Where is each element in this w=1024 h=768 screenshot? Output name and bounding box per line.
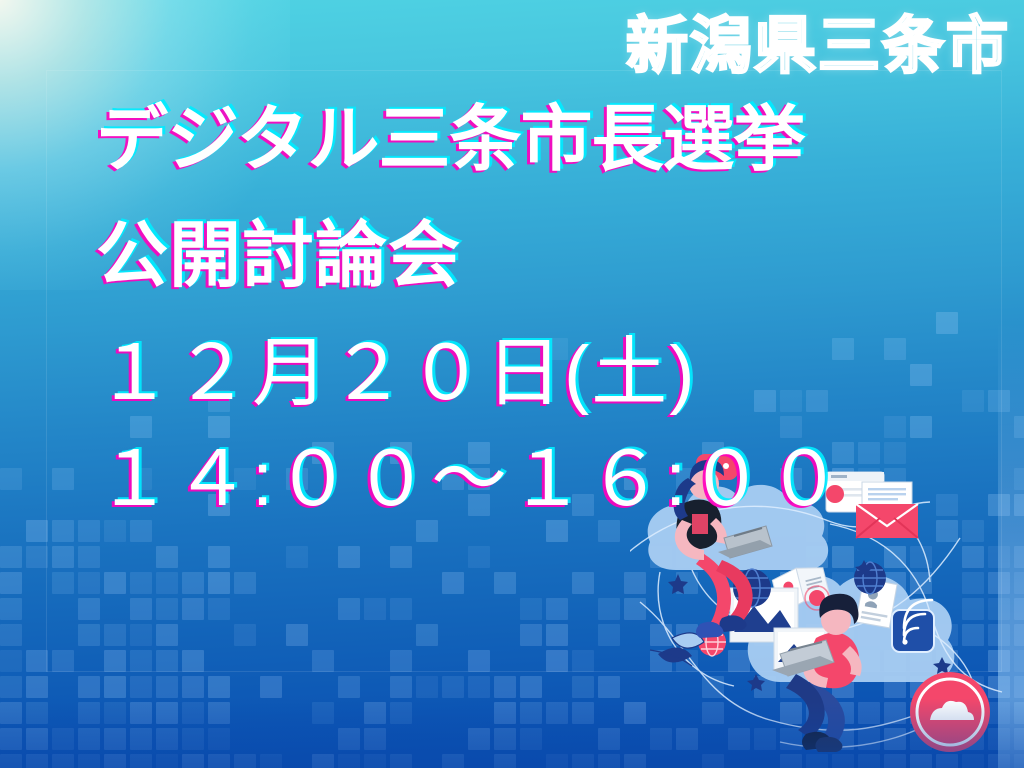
mosaic-square	[702, 546, 724, 568]
person-male-with-laptop	[772, 594, 862, 752]
mosaic-square	[936, 520, 958, 542]
mosaic-square	[676, 728, 698, 750]
mosaic-square	[520, 728, 542, 750]
mosaic-square	[988, 572, 1010, 594]
mosaic-square	[910, 728, 932, 750]
mosaic-square	[806, 624, 828, 646]
mosaic-square	[156, 546, 178, 568]
mosaic-square	[208, 676, 230, 698]
mosaic-square	[104, 702, 126, 724]
mosaic-square	[754, 598, 776, 620]
mosaic-square	[806, 728, 828, 750]
mosaic-square	[936, 702, 958, 724]
mosaic-square	[494, 676, 516, 698]
mosaic-square	[806, 754, 828, 768]
mosaic-square	[546, 520, 568, 542]
mosaic-square	[104, 624, 126, 646]
mosaic-square	[494, 572, 516, 594]
mosaic-square	[650, 650, 672, 672]
mosaic-square	[338, 728, 360, 750]
mosaic-square	[858, 442, 880, 464]
mosaic-square	[884, 754, 906, 768]
mosaic-square	[52, 520, 74, 542]
mosaic-square	[130, 624, 152, 646]
mosaic-square	[936, 754, 958, 768]
wifi-icon	[892, 600, 934, 652]
mosaic-square	[806, 546, 828, 568]
mosaic-square	[754, 624, 776, 646]
star-icon-1	[668, 574, 688, 594]
mosaic-square	[858, 702, 880, 724]
mosaic-square	[52, 650, 74, 672]
mosaic-square	[1014, 624, 1024, 646]
globe-icon-navy-2	[854, 562, 886, 594]
mosaic-square	[962, 546, 984, 568]
mosaic-square	[182, 650, 204, 672]
mosaic-square	[754, 728, 776, 750]
mosaic-square	[962, 754, 984, 768]
mosaic-square	[260, 676, 282, 698]
mosaic-square	[26, 728, 48, 750]
mosaic-square	[1014, 494, 1024, 516]
mosaic-square	[130, 520, 152, 542]
mosaic-square	[208, 702, 230, 724]
mosaic-square	[156, 754, 178, 768]
mosaic-square	[130, 728, 152, 750]
mosaic-square	[156, 598, 178, 620]
mosaic-square	[884, 468, 906, 490]
mosaic-square	[104, 754, 126, 768]
shoe-4	[815, 737, 842, 752]
mosaic-square	[1014, 468, 1024, 490]
cloud-shape-lower	[745, 575, 954, 682]
mosaic-square	[832, 676, 854, 698]
mosaic-square	[988, 676, 1010, 698]
mosaic-square	[936, 676, 958, 698]
mosaic-square	[988, 494, 1010, 516]
mosaic-square	[1014, 572, 1024, 594]
mosaic-square	[468, 676, 490, 698]
mosaic-square	[52, 572, 74, 594]
mosaic-square	[962, 520, 984, 542]
photo-frame-icon-small	[774, 628, 828, 670]
mosaic-square	[26, 546, 48, 568]
envelope-icon	[856, 482, 918, 538]
globe-icon-navy-upper	[735, 568, 773, 606]
mosaic-square	[988, 702, 1010, 724]
mosaic-square	[884, 572, 906, 594]
mosaic-square	[936, 312, 958, 334]
mosaic-square	[884, 416, 906, 438]
mosaic-square	[702, 754, 724, 768]
mosaic-square	[0, 650, 22, 672]
mosaic-square	[312, 702, 334, 724]
mosaic-square	[520, 702, 542, 724]
mosaic-square	[598, 598, 620, 620]
mosaic-square	[754, 676, 776, 698]
mosaic-square	[416, 624, 438, 646]
mosaic-square	[156, 572, 178, 594]
mosaic-square	[416, 676, 438, 698]
mosaic-square	[0, 468, 22, 490]
mosaic-square	[936, 728, 958, 750]
right-light-strip	[998, 0, 1024, 768]
mosaic-square	[182, 728, 204, 750]
mosaic-square	[962, 676, 984, 698]
mosaic-square	[78, 676, 100, 698]
mosaic-square	[702, 702, 724, 724]
mosaic-square	[286, 624, 308, 646]
mosaic-square	[26, 754, 48, 768]
mosaic-square	[78, 728, 100, 750]
mosaic-square	[130, 650, 152, 672]
mosaic-square	[780, 650, 802, 672]
mosaic-square	[390, 650, 412, 672]
mosaic-square	[390, 676, 412, 698]
event-date: １２月２０日(土)	[96, 336, 844, 412]
mosaic-square	[780, 754, 802, 768]
mosaic-square	[78, 520, 100, 542]
mosaic-square	[988, 546, 1010, 568]
mosaic-square	[26, 520, 48, 542]
mosaic-square	[962, 624, 984, 646]
mosaic-square	[910, 546, 932, 568]
mosaic-square	[910, 702, 932, 724]
mosaic-square	[208, 572, 230, 594]
mosaic-square	[234, 624, 256, 646]
mosaic-square	[598, 728, 620, 750]
mosaic-square	[0, 624, 22, 646]
mosaic-square	[130, 572, 152, 594]
mosaic-square	[1014, 754, 1024, 768]
globe-icon-pink	[698, 628, 726, 656]
mosaic-square	[364, 702, 386, 724]
mosaic-square	[624, 572, 646, 594]
mosaic-square	[546, 624, 568, 646]
mosaic-square	[910, 676, 932, 698]
mosaic-square	[0, 572, 22, 594]
mosaic-square	[806, 598, 828, 620]
mosaic-square	[390, 702, 412, 724]
mosaic-square	[208, 598, 230, 620]
mosaic-square	[572, 650, 594, 672]
mosaic-square	[936, 624, 958, 646]
mosaic-square	[598, 754, 620, 768]
open-book-icon	[771, 562, 831, 613]
mosaic-square	[0, 546, 22, 568]
mosaic-square	[598, 676, 620, 698]
globe-icon-navy-center	[732, 569, 770, 607]
mosaic-square	[156, 650, 178, 672]
mosaic-square	[182, 676, 204, 698]
mosaic-square	[858, 598, 880, 620]
mosaic-square	[1014, 728, 1024, 750]
mosaic-square	[78, 598, 100, 620]
mosaic-square	[390, 754, 412, 768]
mosaic-square	[884, 546, 906, 568]
mosaic-square	[884, 598, 906, 620]
mosaic-square	[936, 494, 958, 516]
mosaic-square	[962, 728, 984, 750]
mosaic-square	[182, 572, 204, 594]
mosaic-square	[884, 338, 906, 360]
mosaic-square	[676, 650, 698, 672]
subheadline: 公開討論会	[96, 220, 844, 292]
mosaic-square	[390, 598, 412, 620]
mosaic-square	[650, 546, 672, 568]
mosaic-square	[234, 754, 256, 768]
mosaic-square	[910, 754, 932, 768]
mosaic-square	[858, 468, 880, 490]
mosaic-square	[364, 728, 386, 750]
shoe-1	[719, 615, 746, 632]
mosaic-square	[858, 650, 880, 672]
mosaic-square	[442, 572, 464, 594]
mosaic-square	[624, 754, 646, 768]
mosaic-square	[182, 754, 204, 768]
shoe-3	[802, 732, 831, 750]
leaf-icon	[650, 633, 704, 666]
mosaic-square	[0, 754, 22, 768]
mosaic-square	[78, 624, 100, 646]
mosaic-square	[832, 572, 854, 594]
mosaic-square	[494, 728, 516, 750]
mosaic-square	[832, 754, 854, 768]
mosaic-square	[988, 624, 1010, 646]
mosaic-square	[234, 572, 256, 594]
mosaic-square	[884, 702, 906, 724]
mosaic-square	[520, 624, 542, 646]
mosaic-square	[858, 572, 880, 594]
mosaic-square	[468, 546, 490, 568]
mosaic-square	[936, 650, 958, 672]
mosaic-square	[546, 702, 568, 724]
headline: デジタル三条市長選挙	[96, 104, 844, 176]
mosaic-square	[988, 650, 1010, 672]
mosaic-square	[598, 624, 620, 646]
mosaic-square	[26, 676, 48, 698]
mosaic-square	[572, 676, 594, 698]
globe-icon-navy-1	[733, 569, 771, 607]
mosaic-square	[806, 520, 828, 542]
mosaic-square	[676, 546, 698, 568]
mosaic-square	[52, 728, 74, 750]
mosaic-square	[104, 676, 126, 698]
mosaic-square	[130, 676, 152, 698]
mosaic-square	[312, 650, 334, 672]
mosaic-square	[728, 728, 750, 750]
mosaic-square	[156, 624, 178, 646]
text-block: デジタル三条市長選挙 公開討論会 １２月２０日(土) １４:００〜１６:００	[96, 104, 844, 518]
mosaic-square	[910, 364, 932, 386]
mosaic-square	[884, 650, 906, 672]
mosaic-square	[910, 598, 932, 620]
mosaic-square	[910, 416, 932, 438]
mosaic-square	[832, 624, 854, 646]
star-icon-2	[855, 560, 873, 577]
mosaic-square	[104, 572, 126, 594]
mosaic-square	[806, 702, 828, 724]
mosaic-square	[858, 754, 880, 768]
mosaic-square	[208, 728, 230, 750]
hair	[819, 594, 858, 624]
mosaic-square	[208, 754, 230, 768]
mosaic-square	[520, 676, 542, 698]
mosaic-square	[468, 728, 490, 750]
mosaic-square	[104, 650, 126, 672]
mosaic-square	[910, 650, 932, 672]
mosaic-square	[728, 650, 750, 672]
mosaic-square	[546, 754, 568, 768]
mosaic-square	[494, 702, 516, 724]
mosaic-square	[572, 702, 594, 724]
mosaic-square	[78, 702, 100, 724]
mosaic-square	[780, 572, 802, 594]
laptop-1	[718, 526, 772, 558]
mosaic-square	[286, 546, 308, 568]
mosaic-square	[650, 624, 672, 646]
mosaic-square	[780, 598, 802, 620]
mosaic-square	[572, 572, 594, 594]
mosaic-square	[832, 728, 854, 750]
mosaic-square	[260, 754, 282, 768]
connector-lines	[630, 502, 1002, 747]
mosaic-square	[390, 546, 412, 568]
mosaic-square	[0, 702, 22, 724]
mosaic-square	[338, 754, 360, 768]
mosaic-square	[962, 598, 984, 620]
mosaic-square	[988, 598, 1010, 620]
mosaic-square	[130, 702, 152, 724]
mosaic-square	[104, 728, 126, 750]
star-icon-3	[747, 674, 765, 691]
mosaic-square	[780, 624, 802, 646]
mosaic-square	[520, 598, 542, 620]
mosaic-square	[624, 702, 646, 724]
mosaic-square	[832, 546, 854, 568]
mosaic-square	[884, 676, 906, 698]
mosaic-square	[156, 676, 178, 698]
mosaic-square	[26, 702, 48, 724]
globe-icon-dark-mid	[733, 569, 771, 607]
mosaic-square	[1014, 416, 1024, 438]
mosaic-square	[1014, 546, 1024, 568]
mosaic-square	[0, 676, 22, 698]
mosaic-square	[364, 754, 386, 768]
mosaic-square	[806, 650, 828, 672]
mosaic-square	[416, 520, 438, 542]
photo-frame-icon-large	[730, 586, 829, 642]
mosaic-square	[78, 754, 100, 768]
globe-icon-1	[729, 566, 773, 610]
mosaic-square	[1014, 676, 1024, 698]
mosaic-square	[832, 598, 854, 620]
mosaic-square	[910, 624, 932, 646]
mosaic-square	[494, 754, 516, 768]
mosaic-square	[0, 728, 22, 750]
mosaic-square	[1014, 702, 1024, 724]
mosaic-square	[52, 546, 74, 568]
mosaic-square	[338, 676, 360, 698]
mosaic-square	[676, 572, 698, 594]
mosaic-square	[26, 650, 48, 672]
cloud-badge-icon	[910, 672, 990, 752]
mosaic-square	[780, 676, 802, 698]
mosaic-square	[572, 754, 594, 768]
bottom-fade	[0, 698, 1024, 768]
mosaic-square	[364, 598, 386, 620]
mosaic-square	[1014, 650, 1024, 672]
star-icon-4	[933, 657, 951, 674]
mosaic-square	[780, 702, 802, 724]
mosaic-square	[130, 598, 152, 620]
mosaic-square	[208, 546, 230, 568]
mosaic-square	[546, 650, 568, 672]
mosaic-square	[182, 598, 204, 620]
event-time: １４:００〜１６:００	[96, 442, 844, 518]
shoe-2	[696, 622, 723, 638]
mosaic-square	[338, 598, 360, 620]
mosaic-square	[962, 702, 984, 724]
mosaic-square	[78, 546, 100, 568]
mosaic-square	[884, 728, 906, 750]
mosaic-square	[52, 754, 74, 768]
mosaic-square	[702, 676, 724, 698]
poster-canvas: 新潟県三条市 デジタル三条市長選挙 公開討論会 １２月２０日(土) １４:００〜…	[0, 0, 1024, 768]
mosaic-square	[156, 728, 178, 750]
mosaic-square	[962, 572, 984, 594]
mosaic-square	[78, 572, 100, 594]
mosaic-square	[962, 390, 984, 412]
mosaic-square	[156, 702, 178, 724]
mosaic-square	[442, 676, 464, 698]
mosaic-square	[988, 754, 1010, 768]
mosaic-square	[884, 442, 906, 464]
mosaic-square	[338, 546, 360, 568]
mosaic-square	[312, 754, 334, 768]
mosaic-square	[858, 728, 880, 750]
globe-icon-navy-left	[731, 567, 773, 609]
mosaic-square	[598, 520, 620, 542]
mosaic-square	[546, 598, 568, 620]
laptop-2	[772, 640, 834, 676]
mosaic-square	[988, 728, 1010, 750]
mosaic-square	[52, 468, 74, 490]
id-card-icon	[856, 579, 897, 628]
municipality-label: 新潟県三条市	[626, 16, 1010, 78]
mosaic-square	[130, 754, 152, 768]
mosaic-square	[832, 702, 854, 724]
mosaic-square	[780, 728, 802, 750]
mosaic-square	[1014, 598, 1024, 620]
mosaic-square	[858, 624, 880, 646]
mosaic-square	[468, 650, 490, 672]
mosaic-square	[676, 624, 698, 646]
mosaic-square	[988, 390, 1010, 412]
mosaic-square	[624, 598, 646, 620]
mosaic-square	[104, 520, 126, 542]
mosaic-square	[442, 754, 464, 768]
mosaic-square	[910, 572, 932, 594]
mosaic-square	[0, 598, 22, 620]
mosaic-square	[182, 702, 204, 724]
mosaic-square	[832, 650, 854, 672]
mosaic-square	[650, 728, 672, 750]
